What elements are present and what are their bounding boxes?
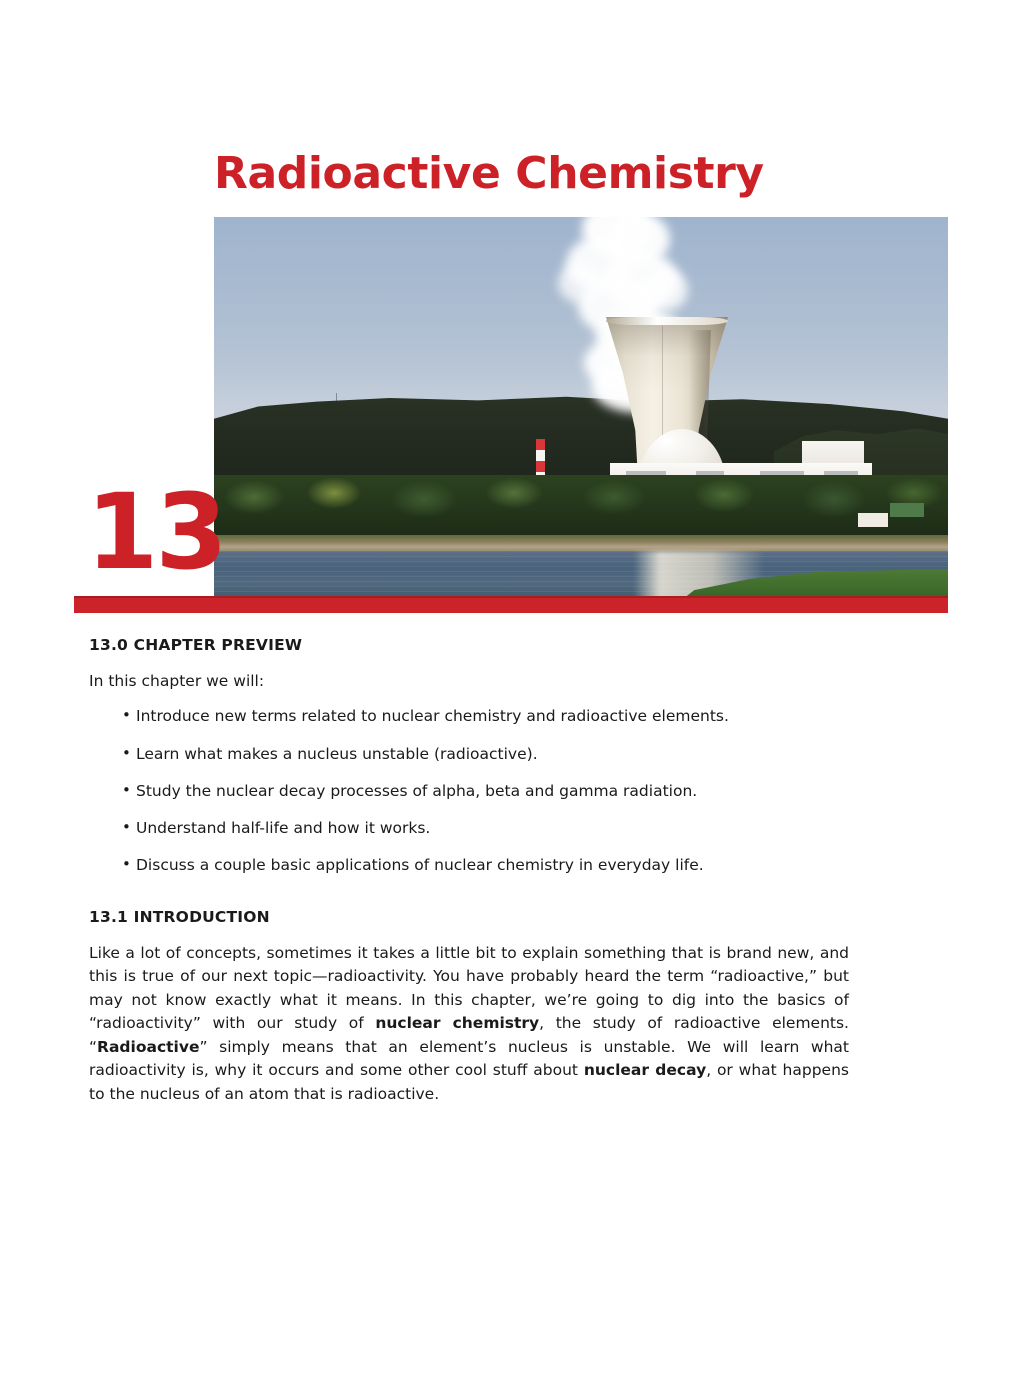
list-item: Understand half-life and how it works. (122, 817, 849, 840)
page-title: Radioactive Chemistry (214, 152, 954, 196)
chapter-preview-list: Introduce new terms related to nuclear c… (89, 705, 849, 877)
term-nuclear-chemistry: nuclear chemistry (375, 1014, 539, 1032)
chapter-hero-image (214, 217, 948, 602)
introduction-paragraph: Like a lot of concepts, sometimes it tak… (89, 942, 849, 1107)
green-shed (890, 503, 924, 517)
tree-line (214, 475, 948, 543)
list-item: Learn what makes a nucleus unstable (rad… (122, 743, 849, 766)
list-item: Discuss a couple basic applications of n… (122, 854, 849, 877)
chapter-preview-heading: 13.0 CHAPTER PREVIEW (89, 636, 849, 654)
introduction-heading: 13.1 INTRODUCTION (89, 908, 849, 926)
chapter-number: 13 (86, 480, 225, 584)
riverside-house (858, 513, 888, 527)
chapter-preview-lead: In this chapter we will: (89, 670, 849, 693)
term-nuclear-decay: nuclear decay (584, 1061, 706, 1079)
list-item: Introduce new terms related to nuclear c… (122, 705, 849, 728)
term-radioactive: Radioactive (97, 1038, 199, 1056)
introduction-section: 13.1 INTRODUCTION Like a lot of concepts… (89, 908, 849, 1107)
list-item: Study the nuclear decay processes of alp… (122, 780, 849, 803)
accent-rule (74, 596, 948, 613)
page-content: 13.0 CHAPTER PREVIEW In this chapter we … (89, 636, 849, 1106)
